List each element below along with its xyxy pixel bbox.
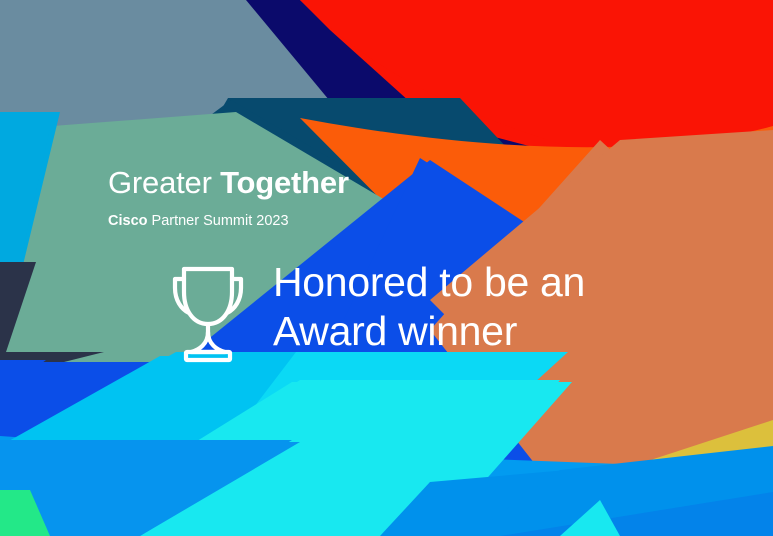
lockup-title-bold: Together <box>220 165 349 200</box>
award-poster: Greater Together Cisco Partner Summit 20… <box>0 0 773 536</box>
brand-lockup: Greater Together Cisco Partner Summit 20… <box>108 163 349 230</box>
lockup-subtitle-rest: Partner Summit 2023 <box>148 213 289 229</box>
lockup-title: Greater Together <box>108 163 349 203</box>
award-headline: Honored to be an Award winner <box>251 258 585 356</box>
lockup-subtitle: Cisco Partner Summit 2023 <box>108 212 349 230</box>
trophy-foot <box>191 332 225 352</box>
trophy-base <box>186 352 230 360</box>
lockup-title-regular: Greater <box>108 165 220 200</box>
content-overlay: Greater Together Cisco Partner Summit 20… <box>0 0 773 536</box>
trophy-icon <box>165 262 251 364</box>
award-message: Honored to be an Award winner <box>165 258 585 364</box>
trophy-bowl <box>184 269 232 324</box>
lockup-subtitle-brand: Cisco <box>108 213 148 229</box>
